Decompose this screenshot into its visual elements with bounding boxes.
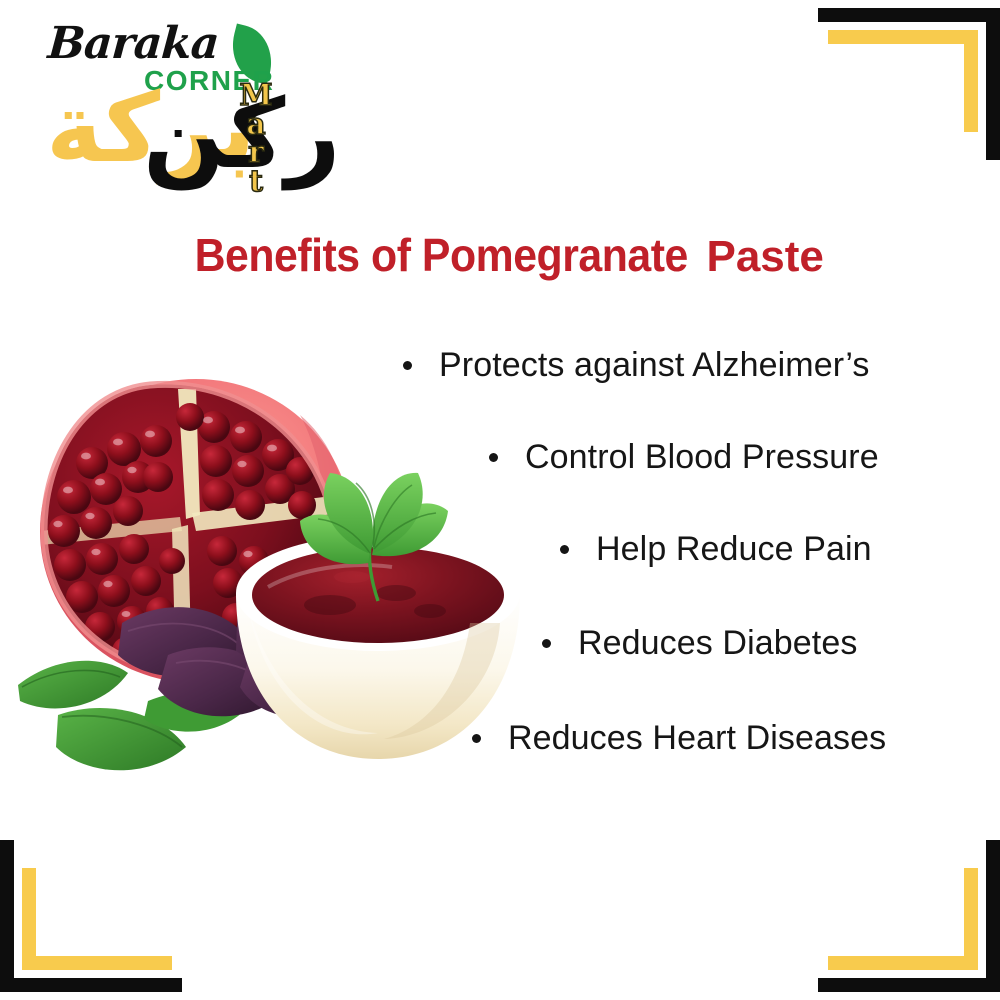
corner-bar-black-vertical <box>986 8 1000 160</box>
corner-bar-black-horizontal <box>818 8 1000 22</box>
corner-bar-yellow-horizontal <box>22 956 172 970</box>
brand-name-baraka: Baraka <box>46 18 220 69</box>
bullet-dot-icon <box>403 361 412 370</box>
mart-letter-t: t <box>236 168 276 197</box>
corner-bar-black-vertical <box>986 840 1000 992</box>
list-item: Help Reduce Pain <box>560 530 872 569</box>
corner-bar-black-vertical <box>0 840 14 992</box>
bullet-dot-icon <box>489 453 498 462</box>
brand-logo[interactable]: Baraka CORNER بركة ركن M a r t <box>18 10 288 200</box>
poster-canvas: Baraka CORNER بركة ركن M a r t Benefits … <box>0 0 1000 1000</box>
bullet-dot-icon <box>472 734 481 743</box>
bullet-dot-icon <box>560 545 569 554</box>
corner-bar-black-horizontal <box>0 978 182 992</box>
corner-bar-black-horizontal <box>818 978 1000 992</box>
corner-bar-yellow-vertical <box>964 868 978 970</box>
list-item: Reduces Diabetes <box>542 624 857 663</box>
corner-bar-yellow-horizontal <box>828 30 978 44</box>
page-title-sub: Paste <box>706 232 823 282</box>
benefit-label: Control Blood Pressure <box>525 438 879 477</box>
corner-decoration-bottom-left <box>0 840 190 1000</box>
benefit-label: Protects against Alzheimer’s <box>439 346 870 385</box>
corner-bar-yellow-vertical <box>22 868 36 970</box>
corner-bar-yellow-vertical <box>964 30 978 132</box>
bullet-dot-icon <box>542 639 551 648</box>
list-item: Protects against Alzheimer’s <box>403 346 870 385</box>
brand-arabic-wordmark: بركة ركن <box>28 72 243 192</box>
corner-decoration-bottom-right <box>810 840 1000 1000</box>
list-item: Reduces Heart Diseases <box>472 719 886 758</box>
corner-decoration-top-right <box>810 0 1000 160</box>
list-item: Control Blood Pressure <box>489 438 879 477</box>
benefit-label: Reduces Diabetes <box>578 624 857 663</box>
page-title-main: Benefits of Pomegranate <box>195 228 688 282</box>
corner-bar-yellow-horizontal <box>828 956 978 970</box>
benefit-label: Help Reduce Pain <box>596 530 872 569</box>
benefit-label: Reduces Heart Diseases <box>508 719 886 758</box>
brand-word-mart: M a r t <box>236 82 276 196</box>
page-title: Benefits of PomegranatePaste <box>0 228 1000 282</box>
